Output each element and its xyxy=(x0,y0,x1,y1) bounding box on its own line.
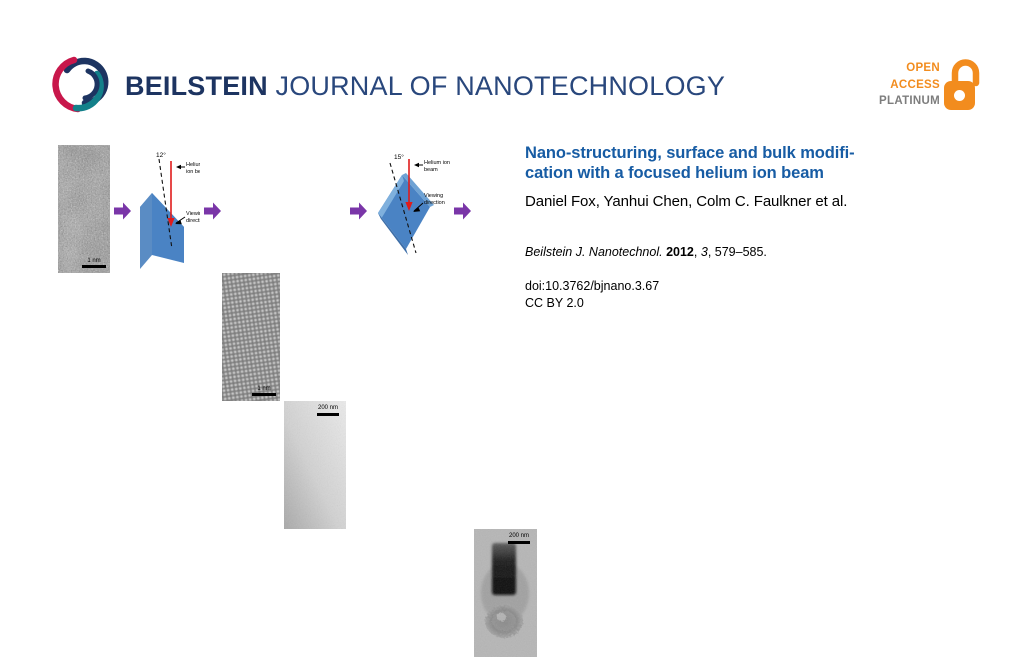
process-arrow-icon xyxy=(204,202,221,220)
scale-bar-label: 1 nm xyxy=(82,258,106,269)
citation-volume: 3 xyxy=(701,245,708,259)
scale-bar-line xyxy=(508,541,530,544)
article-info-block: Nano-structuring, surface and bulk modif… xyxy=(525,143,995,312)
scale-bar-line xyxy=(252,393,276,396)
scale-bar-label: 200 nm xyxy=(314,405,342,416)
oa-line-open: OPEN xyxy=(879,60,940,77)
wordmark-bold-text: BEILSTEIN xyxy=(125,71,268,101)
scale-bar-line xyxy=(317,413,339,416)
process-arrow-icon xyxy=(350,202,367,220)
doi-block: doi:10.3762/bjnano.3.67 CC BY 2.0 xyxy=(525,278,995,312)
citation-pages: 579–585. xyxy=(715,245,767,259)
svg-text:beam: beam xyxy=(424,167,438,173)
oa-line-access: ACCESS xyxy=(879,77,940,94)
beilstein-spiral-logo-icon xyxy=(52,56,114,114)
angle-label-text: 15° xyxy=(394,153,404,161)
svg-text:Helium: Helium xyxy=(186,162,200,168)
svg-text:direction: direction xyxy=(424,200,445,206)
svg-text:ion beam: ion beam xyxy=(186,169,200,175)
svg-text:Viewing: Viewing xyxy=(424,193,443,199)
citation-block: Beilstein J. Nanotechnol. 2012, 3, 579–5… xyxy=(525,244,995,261)
article-title-line2: cation with a focused helium ion beam xyxy=(525,164,824,182)
schematic-15-degree-tilt-panel: 15° Helium ion beam Viewing direction xyxy=(368,145,450,273)
open-access-badge: OPEN ACCESS PLATINUM xyxy=(884,58,984,114)
process-arrow-icon xyxy=(454,202,471,220)
svg-text:Viewing: Viewing xyxy=(186,211,200,217)
tem-blank-membrane-panel: 200 nm xyxy=(284,401,346,529)
journal-wordmark: BEILSTEIN JOURNAL OF NANOTECHNOLOGY xyxy=(125,70,725,102)
citation-year: 2012 xyxy=(666,245,694,259)
graphical-abstract-figure: 1 nm 12° Helium ion beam xyxy=(58,145,506,273)
angle-label-text: 12° xyxy=(156,151,166,159)
article-title-line1: Nano-structuring, surface and bulk modif… xyxy=(525,144,855,162)
scale-bar-line xyxy=(82,265,106,268)
tem-crystal-lattice-panel: 1 nm xyxy=(222,273,280,401)
tem-amorphous-carbon-panel: 1 nm xyxy=(58,145,110,273)
article-authors: Daniel Fox, Yanhui Chen, Colm C. Faulkne… xyxy=(525,192,995,211)
citation-journal: Beilstein J. Nanotechnol. xyxy=(525,245,663,259)
schematic-12-degree-tilt-panel: 12° Helium ion beam Viewing direction xyxy=(132,145,200,273)
citation-year-comma: , xyxy=(694,245,697,259)
svg-text:direction: direction xyxy=(186,218,200,224)
scale-bar-label: 200 nm xyxy=(505,533,533,544)
wordmark-light-text: JOURNAL OF NANOTECHNOLOGY xyxy=(268,71,725,101)
license-text: CC BY 2.0 xyxy=(525,295,995,312)
process-arrow-icon xyxy=(114,202,131,220)
citation-line: Beilstein J. Nanotechnol. 2012, 3, 579–5… xyxy=(525,244,995,261)
oa-line-platinum: PLATINUM xyxy=(879,93,940,110)
open-lock-icon xyxy=(942,58,984,112)
doi-text: doi:10.3762/bjnano.3.67 xyxy=(525,278,995,295)
svg-text:Helium ion: Helium ion xyxy=(424,160,450,166)
masthead-header: BEILSTEIN JOURNAL OF NANOTECHNOLOGY OPEN… xyxy=(0,0,1024,130)
scale-bar-label: 1 nm xyxy=(252,386,276,397)
open-access-label: OPEN ACCESS PLATINUM xyxy=(879,60,940,110)
article-title: Nano-structuring, surface and bulk modif… xyxy=(525,143,995,183)
tem-milled-structure-panel: 200 nm xyxy=(474,529,537,657)
